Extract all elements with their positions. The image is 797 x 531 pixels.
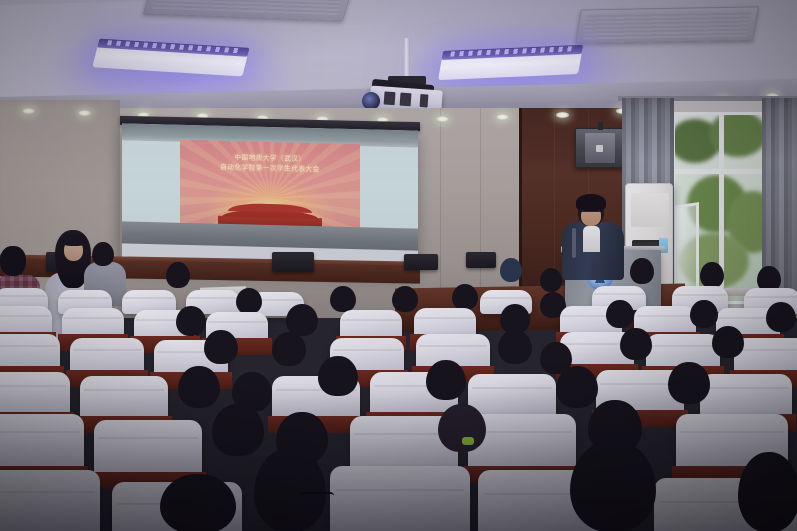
- projection-screen: 中国地质大学（武汉） 自动化学院第一次学生代表大会: [122, 123, 418, 272]
- speaker-center-dot: [596, 145, 603, 152]
- audience-head: [212, 404, 264, 456]
- glasses-icon: [300, 492, 334, 504]
- downlight: [436, 116, 449, 122]
- speaker-hair: [576, 194, 606, 211]
- audience-head: [690, 300, 718, 328]
- desk-monitor[interactable]: [272, 252, 314, 272]
- audience-seat[interactable]: [0, 334, 60, 370]
- downlight: [556, 112, 569, 118]
- audience-seat[interactable]: [70, 338, 144, 374]
- audience-head-foreground: [160, 474, 236, 531]
- audience-seat[interactable]: [0, 306, 52, 336]
- audience-seat[interactable]: [468, 374, 556, 418]
- audience-seat[interactable]: [94, 420, 202, 476]
- audience-head: [272, 332, 306, 366]
- audience-head-foreground: [254, 448, 326, 531]
- audience-head: [426, 360, 466, 400]
- audience-seat[interactable]: [330, 466, 470, 531]
- speaker-jacket-stripe: [572, 228, 576, 258]
- lecture-hall-photo: 中国地质大学（武汉） 自动化学院第一次学生代表大会: [0, 0, 797, 531]
- desk-equipment[interactable]: [466, 252, 496, 268]
- tree-foliage: [709, 112, 767, 157]
- wall-seam: [480, 108, 481, 308]
- projector-pole: [404, 38, 410, 78]
- audience-head: [620, 328, 652, 360]
- audience-head: [556, 366, 598, 408]
- ac-grille: [631, 193, 669, 227]
- audience-head: [330, 286, 356, 312]
- audience-head: [712, 326, 744, 358]
- audience-head: [236, 288, 262, 314]
- green-wristband: [462, 437, 474, 445]
- audience-head: [498, 330, 532, 364]
- audience-head: [700, 262, 724, 288]
- hair-fringe: [61, 234, 87, 246]
- audience-seat[interactable]: [0, 470, 100, 531]
- window-mullion-horizontal: [675, 169, 765, 174]
- audience-head: [318, 356, 358, 396]
- glasses-icon: [581, 211, 601, 216]
- audience-head: [500, 258, 522, 282]
- audience-head: [438, 404, 486, 452]
- downlight: [78, 110, 91, 116]
- wall-mounted-speaker: [575, 128, 625, 168]
- audience-seat[interactable]: [0, 372, 70, 416]
- audience-head: [176, 306, 206, 336]
- projector-panel-a: [384, 91, 396, 105]
- wall-seam: [440, 108, 441, 308]
- desk-equipment[interactable]: [404, 254, 438, 270]
- audience-seat[interactable]: [0, 414, 84, 470]
- audience-seat[interactable]: [340, 310, 402, 340]
- audience-seat[interactable]: [80, 376, 168, 420]
- audience-head: [630, 258, 654, 284]
- air-vent-right: [575, 6, 759, 43]
- audience-head: [668, 362, 710, 404]
- audience-head: [452, 284, 478, 310]
- audience-seat[interactable]: [62, 308, 124, 338]
- audience-seat[interactable]: [700, 374, 792, 418]
- audience-head: [540, 268, 562, 292]
- speaker-bracket: [598, 122, 603, 130]
- audience-head: [606, 300, 634, 328]
- audience-head-foreground: [738, 452, 797, 531]
- audience-head: [166, 262, 190, 288]
- audience-head: [178, 366, 220, 408]
- screen-letterbox-right: [360, 146, 418, 239]
- projector-panel-c: [420, 94, 429, 108]
- audience-head: [766, 302, 796, 332]
- audience-head-foreground: [570, 440, 656, 531]
- audience-head: [204, 330, 238, 364]
- speaker-shirt: [583, 226, 600, 252]
- head: [0, 246, 26, 276]
- screen-letterbox-left: [122, 140, 180, 233]
- head: [92, 242, 114, 266]
- downlight: [496, 114, 509, 120]
- projector-panel-b: [400, 93, 412, 107]
- downlight: [22, 108, 35, 114]
